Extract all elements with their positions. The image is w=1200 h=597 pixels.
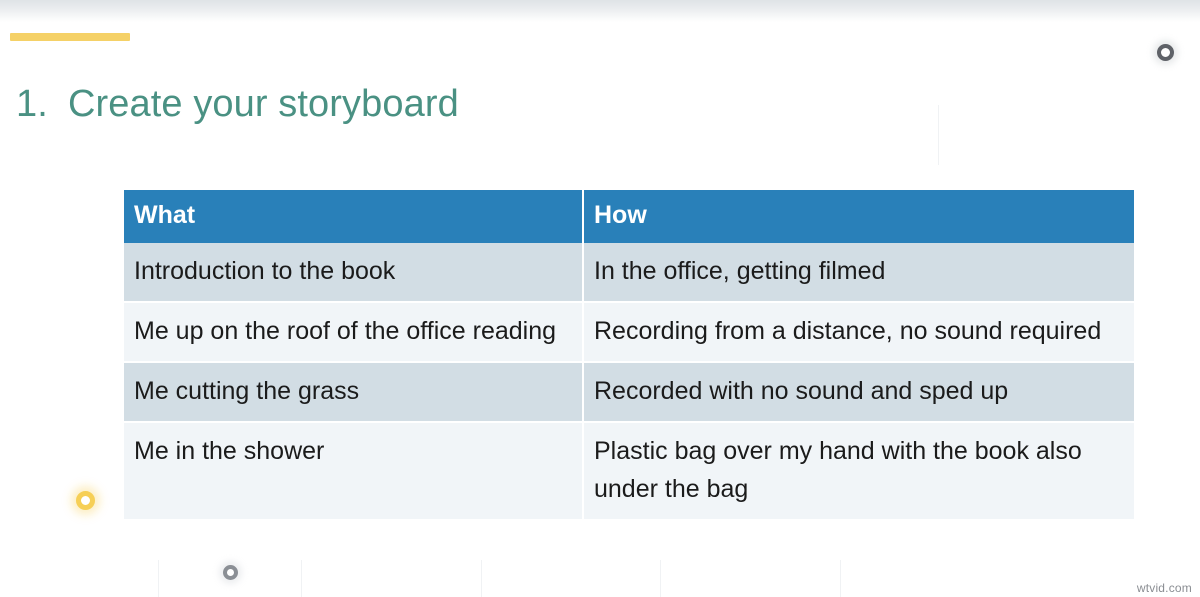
table-row: Introduction to the book In the office, … [124, 243, 1134, 302]
cell-what: Introduction to the book [124, 243, 583, 302]
page-title-text: Create your storyboard [68, 83, 459, 125]
page-title-number: 1. [16, 81, 68, 127]
top-gradient-strip [0, 0, 1200, 22]
page-title: 1.Create your storyboard [16, 81, 916, 127]
cell-how: Recorded with no sound and sped up [583, 362, 1134, 422]
guide-line [481, 560, 482, 597]
slide-canvas: 1.Create your storyboard What How Introd… [0, 0, 1200, 597]
guide-line [158, 560, 159, 597]
table-header: What How [124, 190, 1134, 243]
guide-line [938, 105, 939, 165]
cell-how: Recording from a distance, no sound requ… [583, 302, 1134, 362]
cell-what: Me cutting the grass [124, 362, 583, 422]
table-row: Me cutting the grass Recorded with no so… [124, 362, 1134, 422]
table-row: Me up on the roof of the office reading … [124, 302, 1134, 362]
guide-line [301, 560, 302, 597]
watermark: wtvid.com [1137, 581, 1192, 595]
cell-how: In the office, getting filmed [583, 243, 1134, 302]
cell-what: Me in the shower [124, 422, 583, 520]
storyboard-table: What How Introduction to the book In the… [124, 190, 1134, 521]
table-header-row: What How [124, 190, 1134, 243]
column-header-how: How [583, 190, 1134, 243]
cell-what: Me up on the roof of the office reading [124, 302, 583, 362]
table-row: Me in the shower Plastic bag over my han… [124, 422, 1134, 520]
title-accent-bar [10, 33, 130, 41]
table-body: Introduction to the book In the office, … [124, 243, 1134, 520]
guide-line [840, 560, 841, 597]
pointer-ring-left-icon [76, 491, 95, 510]
column-header-what: What [124, 190, 583, 243]
pointer-ring-top-right-icon [1157, 44, 1174, 61]
cell-how: Plastic bag over my hand with the book a… [583, 422, 1134, 520]
pointer-ring-bottom-icon [223, 565, 238, 580]
guide-line [660, 560, 661, 597]
